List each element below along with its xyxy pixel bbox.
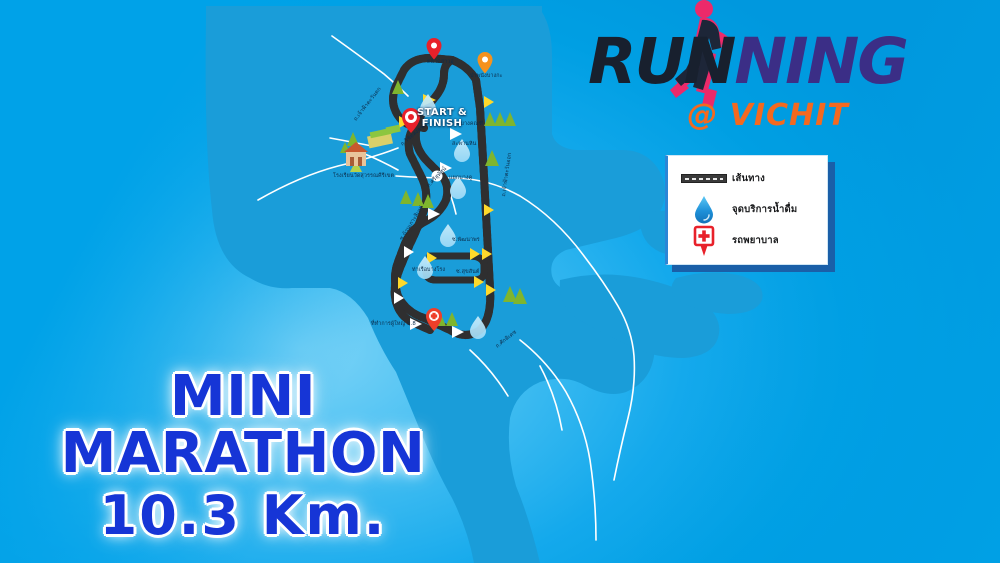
map-label-saphanhin: สะพานหิน [452,140,476,148]
legend-label-ambulance: รถพยาบาล [732,233,779,248]
map-label-soi-suksan: ซ.สุขสันต์ [456,268,480,276]
event-logo: RUNNING @ VICHIT [588,2,948,138]
legend-panel: เส้นทาง จุดบริการน้ำดื่ม รถพยาบาล [665,155,828,265]
legend-item-ambulance: รถพยาบาล [676,225,819,256]
logo-word-run: RUN [588,25,734,98]
start-finish-line1: START & [417,107,467,118]
water-drop-icon [676,195,732,225]
map-label-village-office: ที่ทำการผู้ใหญ่ ม.8 [371,320,416,328]
map-label-school: โรงเรียนวัดสุวรรณคีรีเขต [333,172,394,180]
map-label-market: ตลาดสาวอู่ [427,58,454,66]
logo-subtitle: @ VICHIT [588,98,948,133]
map-label-soi-pattanaporn: ซ.พัฒนาพร [452,236,480,244]
legend-label-water: จุดบริการน้ำดื่ม [732,202,797,217]
start-finish-line2: FINISH [422,118,463,129]
map-label-mangrove: ป่าพนังบางกะ [470,72,503,80]
map-label-yak-bangkhu: แยกบางคู [449,174,472,182]
legend-item-route: เส้นทาง [676,163,819,194]
legend-item-water: จุดบริการน้ำดื่ม [676,194,819,225]
legend-label-route: เส้นทาง [732,171,765,186]
start-finish-label: START & FINISH [417,108,467,129]
logo-word-ning: NING [734,25,907,98]
logo-wordmark: RUNNING [588,30,948,93]
map-label-pier-bangrong: ท่าเรือบางโรง [412,266,445,274]
poster-root: ตลาดสาวอู่ ป่าพนังบางกะ ที่ทำการผู้ใหญ่ … [0,0,1000,563]
route-line-swatch [676,174,732,183]
ambulance-pin-icon [676,225,732,257]
